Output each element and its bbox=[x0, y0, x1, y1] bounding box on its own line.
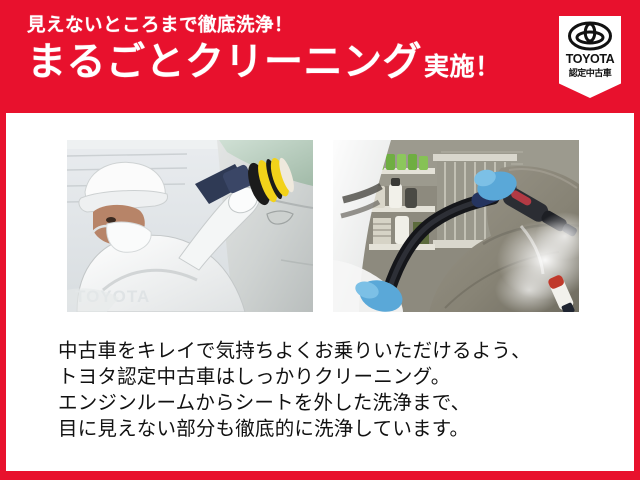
photo-exterior-polishing: TOYOTA bbox=[67, 140, 313, 312]
logo-brand-text: TOYOTA bbox=[559, 52, 621, 66]
copy-line-4: 目に見えない部分も徹底的に洗浄しています。 bbox=[58, 416, 598, 442]
header-text-block: 見えないところまで徹底洗浄！ まるごとクリーニング実施！ bbox=[27, 16, 547, 82]
copy-line-2: トヨタ認定中古車はしっかりクリーニング。 bbox=[58, 364, 598, 390]
logo-chevron-shape bbox=[559, 76, 621, 98]
photo-exterior-polishing-image: TOYOTA bbox=[67, 140, 313, 312]
headline-main-text: まるごとクリーニング bbox=[27, 41, 422, 84]
headline-suffix-text: 実施！ bbox=[424, 53, 501, 81]
header-kicker: 見えないところまで徹底洗浄！ bbox=[27, 16, 547, 35]
header-headline: まるごとクリーニング実施！ bbox=[27, 43, 547, 82]
logo-certification-text: 認定中古車 bbox=[559, 66, 621, 79]
photo-seat-steam-cleaning-image bbox=[333, 140, 579, 312]
toyota-certified-used-car-logo: TOYOTA 認定中古車 bbox=[557, 14, 623, 100]
header-band: 見えないところまで徹底洗浄！ まるごとクリーニング実施！ TOYOTA 認定中古… bbox=[0, 0, 640, 113]
copy-line-3: エンジンルームからシートを外した洗浄まで、 bbox=[58, 390, 598, 416]
copy-line-1: 中古車をキレイで気持ちよくお乗りいただけるよう、 bbox=[58, 338, 598, 364]
photo-row: TOYOTA bbox=[67, 140, 579, 312]
content-panel: TOYOTA bbox=[6, 113, 634, 471]
body-copy: 中古車をキレイで気持ちよくお乗りいただけるよう、 トヨタ認定中古車はしっかりクリ… bbox=[58, 338, 598, 442]
photo-seat-steam-cleaning bbox=[333, 140, 579, 312]
logo-plate: TOYOTA 認定中古車 bbox=[559, 16, 621, 98]
promo-banner: 見えないところまで徹底洗浄！ まるごとクリーニング実施！ TOYOTA 認定中古… bbox=[0, 0, 640, 480]
toyota-ellipse-emblem-icon bbox=[568, 21, 612, 51]
